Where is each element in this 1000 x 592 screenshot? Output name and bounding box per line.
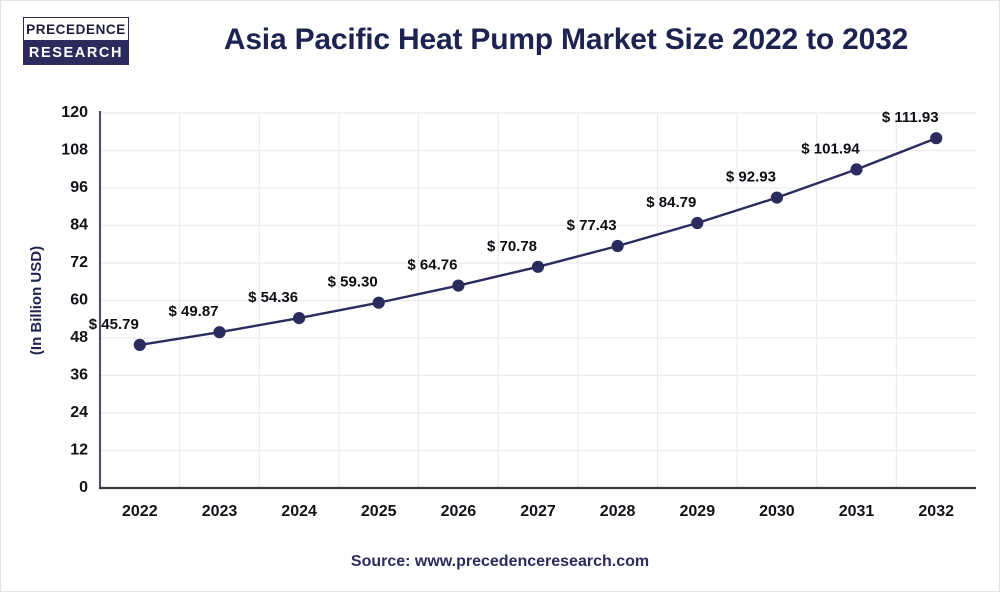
- y-axis-tick-label: 48: [70, 329, 88, 346]
- data-point-marker: [134, 339, 145, 350]
- data-point-marker: [214, 327, 225, 338]
- y-axis-tick-label: 84: [70, 217, 88, 234]
- axis-lines: [99, 111, 976, 488]
- data-point-label: $ 101.94: [801, 140, 860, 157]
- data-point-label: $ 45.79: [89, 316, 139, 333]
- x-axis-tick-label: 2024: [281, 503, 317, 520]
- x-axis-tick-label: 2026: [441, 503, 477, 520]
- x-axis-tick-label: 2022: [122, 503, 158, 520]
- x-axis-tick-labels: 2022202320242025202620272028202920302031…: [122, 503, 954, 520]
- y-axis-title-text: (In Billion USD): [28, 246, 45, 355]
- y-axis-tick-label: 120: [61, 104, 88, 121]
- data-point-label: $ 92.93: [726, 169, 776, 186]
- line-chart-svg: 01224364860728496108120 2022202320242025…: [1, 83, 999, 591]
- data-point-marker: [612, 240, 623, 251]
- data-point-marker: [771, 192, 782, 203]
- data-point-label: $ 77.43: [567, 217, 617, 234]
- x-axis-tick-label: 2027: [520, 503, 556, 520]
- data-point-marker: [453, 280, 464, 291]
- logo-precedence-text: PRECEDENCE: [23, 17, 129, 41]
- chart-page: PRECEDENCE RESEARCH Asia Pacific Heat Pu…: [0, 0, 1000, 592]
- y-axis-tick-label: 24: [70, 404, 88, 421]
- data-point-marker: [373, 297, 384, 308]
- y-axis-tick-labels: 01224364860728496108120: [61, 104, 88, 496]
- gridlines: [100, 113, 976, 488]
- y-axis-tick-label: 36: [70, 367, 88, 384]
- data-point-label: $ 59.30: [328, 274, 378, 291]
- data-point-labels: $ 45.79$ 49.87$ 54.36$ 59.30$ 64.76$ 70.…: [89, 109, 939, 333]
- source-attribution: Source: www.precedenceresearch.com: [1, 553, 999, 571]
- data-point-label: $ 84.79: [646, 194, 696, 211]
- data-point-label: $ 111.93: [882, 109, 939, 126]
- y-axis-tick-label: 72: [70, 254, 88, 271]
- x-axis-tick-label: 2025: [361, 503, 397, 520]
- data-point-label: $ 54.36: [248, 289, 298, 306]
- data-point-markers: [134, 133, 942, 351]
- logo-research-text: RESEARCH: [23, 41, 129, 65]
- data-point-marker: [294, 313, 305, 324]
- y-axis-tick-label: 108: [61, 142, 88, 159]
- data-point-marker: [931, 133, 942, 144]
- data-point-label: $ 64.76: [407, 257, 457, 274]
- y-axis-tick-label: 12: [70, 442, 88, 459]
- data-point-marker: [692, 217, 703, 228]
- page-title: Asia Pacific Heat Pump Market Size 2022 …: [151, 23, 981, 57]
- x-axis-tick-label: 2028: [600, 503, 636, 520]
- chart-header: PRECEDENCE RESEARCH Asia Pacific Heat Pu…: [1, 1, 999, 83]
- y-axis-tick-label: 0: [79, 479, 88, 496]
- data-point-label: $ 70.78: [487, 238, 537, 255]
- x-axis-tick-label: 2031: [839, 503, 875, 520]
- chart-plot-area: 01224364860728496108120 2022202320242025…: [1, 83, 999, 591]
- data-point-marker: [532, 261, 543, 272]
- y-axis-title: (In Billion USD): [28, 246, 45, 355]
- x-axis-tick-label: 2029: [680, 503, 716, 520]
- y-axis-tick-label: 60: [70, 292, 88, 309]
- x-axis-tick-label: 2030: [759, 503, 795, 520]
- data-point-label: $ 49.87: [168, 303, 218, 320]
- x-axis-tick-label: 2032: [918, 503, 954, 520]
- precedence-research-logo: PRECEDENCE RESEARCH: [23, 17, 129, 65]
- data-point-marker: [851, 164, 862, 175]
- y-axis-tick-label: 96: [70, 179, 88, 196]
- x-axis-tick-label: 2023: [202, 503, 238, 520]
